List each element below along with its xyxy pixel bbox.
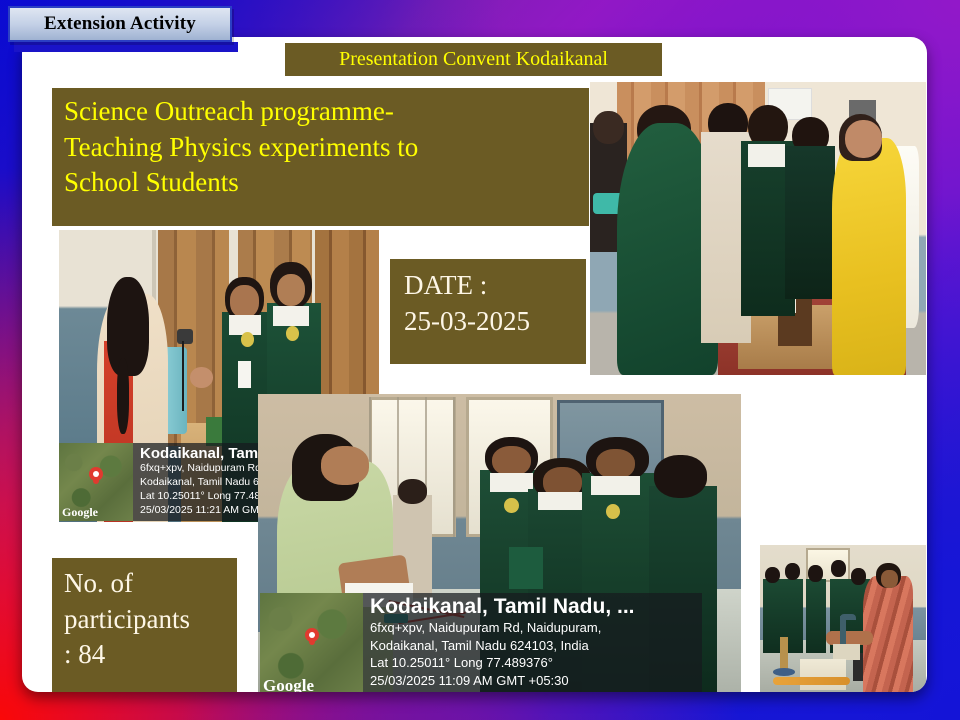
retort-stand	[780, 637, 788, 671]
gps-map-camera-overlay-middle: Google Kodaikanal, Tamil Nadu, ... 6fxq+…	[260, 593, 702, 692]
gps-place-name: Kodaikanal, Tamil Nadu, ...	[370, 595, 698, 619]
girl-2-head	[785, 563, 800, 580]
gps-address-line-2: Kodaikanal, Tamil Nadu 624103, India	[370, 637, 698, 655]
girl-2-collar	[538, 492, 586, 510]
extension-activity-tab-shadow	[14, 42, 238, 52]
demonstrator-face	[881, 570, 898, 588]
photo-students-candle-optics-experiment	[590, 82, 926, 375]
activity-title-panel: Science Outreach programme- Teaching Phy…	[52, 88, 589, 226]
date-label: DATE :	[404, 267, 586, 303]
gps-address-line-1: 6fxq+xpv, Naidupuram Rd, Naidupuram,	[370, 619, 698, 637]
girl-3-head	[808, 565, 823, 582]
map-pin-icon	[89, 467, 103, 481]
teacher-hand	[190, 367, 212, 387]
google-watermark: Google	[62, 505, 98, 520]
boy-2-collar	[273, 306, 308, 326]
participants-count: : 84	[64, 637, 237, 673]
girl-5-head	[851, 568, 866, 585]
retort-stand-base	[773, 668, 795, 676]
girl-3-body	[806, 579, 826, 653]
slide-card: Google Kodaikanal, Tami 6fxq+xpv, Naidup…	[22, 37, 927, 692]
teacher-braid	[117, 358, 130, 434]
participants-line-2: participants	[64, 602, 237, 638]
gps-timestamp: 25/03/2025 11:09 AM GMT +05:30	[370, 672, 698, 690]
photo-girls-at-laboratory-bench	[760, 545, 926, 692]
gps-coordinates: Lat 10.25011° Long 77.489376°	[370, 654, 698, 672]
girl-1-face	[492, 446, 531, 477]
girl-1-collar	[490, 473, 533, 491]
green-notebook	[509, 547, 543, 590]
date-value: 25-03-2025	[404, 303, 586, 339]
girl-1-head	[765, 567, 780, 584]
student-4-body	[785, 146, 835, 298]
google-watermark: Google	[263, 676, 314, 692]
date-panel: DATE : 25-03-2025	[390, 259, 586, 364]
teacher-hair	[107, 277, 149, 376]
orange-tubing	[773, 677, 849, 685]
student-background-left-head	[593, 111, 623, 143]
girl-3-face	[596, 449, 635, 480]
map-thumbnail: Google	[59, 443, 133, 521]
power-wire	[182, 341, 184, 411]
participants-line-1: No. of	[64, 566, 237, 602]
apparatus-box-small	[833, 644, 860, 661]
gps-text-block: Kodaikanal, Tamil Nadu, ... 6fxq+xpv, Na…	[363, 593, 702, 692]
boy-2-crest	[286, 326, 299, 341]
map-thumbnail: Google	[260, 593, 363, 692]
girl-4-head	[654, 455, 707, 498]
apparatus-box	[800, 659, 846, 690]
wall-socket	[177, 329, 193, 344]
boy-2-face	[277, 274, 306, 306]
teacher-face	[845, 120, 882, 158]
map-pin-icon	[305, 628, 319, 642]
activity-title-line-1: Science Outreach programme-	[64, 94, 577, 130]
extension-activity-tab[interactable]: Extension Activity	[8, 6, 232, 42]
photo-teacher-with-girl-students-at-desk: GPS Map Camera Google Kodaikanal, Tamil …	[258, 394, 741, 692]
participants-panel: No. of participants : 84	[52, 558, 237, 692]
teacher-yellow-salwar	[832, 138, 906, 375]
activity-title-line-2: Teaching Physics experiments to	[64, 130, 577, 166]
school-name-tab: Presentation Convent Kodaikanal	[285, 43, 662, 76]
girl-1-crest	[504, 498, 518, 513]
background-person-head	[398, 479, 427, 503]
clamp-stand	[840, 616, 847, 644]
boy-1-id-card	[238, 361, 251, 387]
boy-1-face	[230, 285, 259, 317]
boy-1-crest	[241, 332, 254, 347]
girl-3-collar	[591, 476, 639, 494]
activity-title-line-3: School Students	[64, 165, 577, 201]
teacher-face	[321, 446, 369, 486]
student-3-collar	[748, 144, 785, 167]
